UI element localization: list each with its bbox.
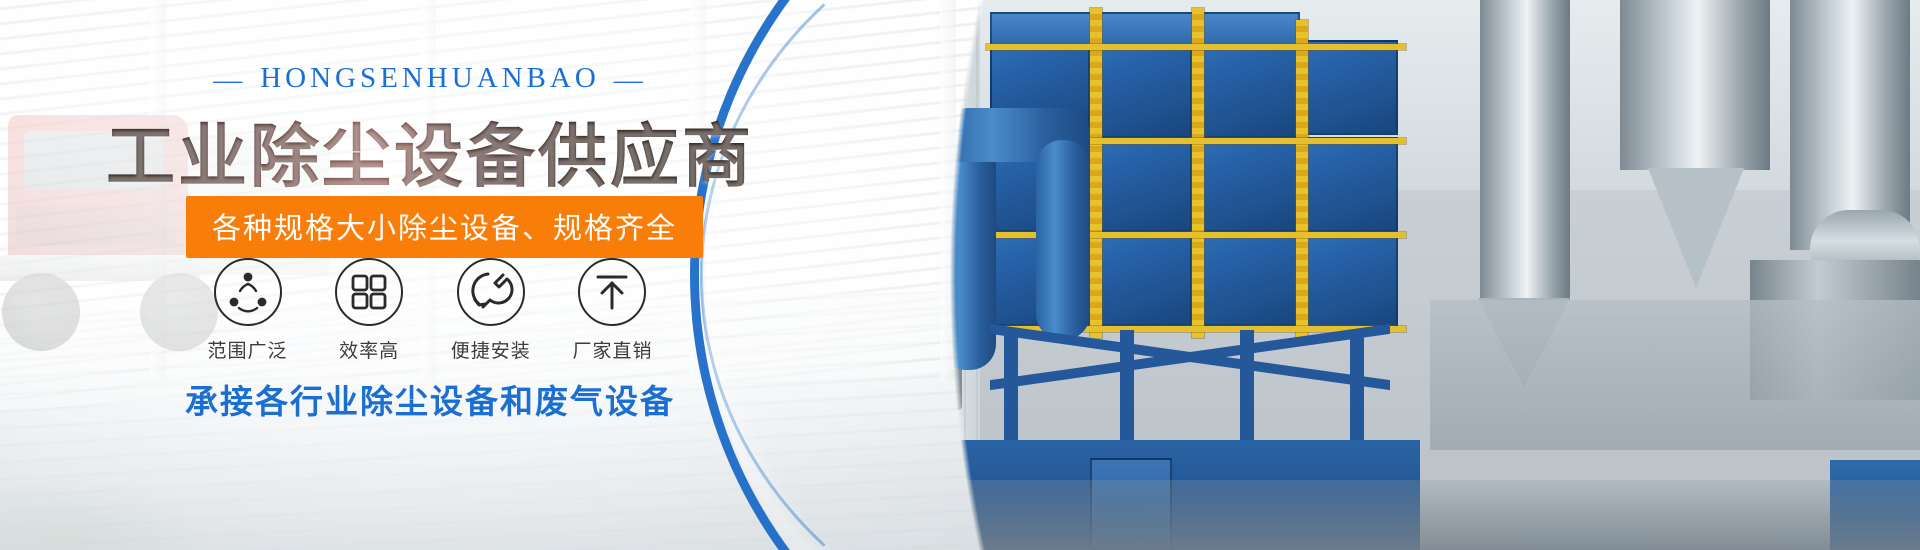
eyebrow-text: HONGSENHUANBAO	[260, 62, 600, 94]
feature-list: 范围广泛 效率高	[195, 258, 665, 363]
page-title: 工业除尘设备供应商	[0, 100, 860, 200]
metal-hopper	[1620, 0, 1770, 170]
banner-content: —HONGSENHUANBAO— 工业除尘设备供应商 各种规格大小除尘设备、规格…	[0, 0, 860, 550]
feature-item-range[interactable]: 范围广泛	[195, 258, 300, 363]
feature-label: 厂家直销	[560, 336, 665, 363]
grid-squares-icon	[335, 258, 403, 326]
promo-banner: —HONGSENHUANBAO— 工业除尘设备供应商 各种规格大小除尘设备、规格…	[0, 0, 1920, 550]
highlight-bar-text: 各种规格大小除尘设备、规格齐全	[212, 213, 677, 245]
feature-label: 便捷安装	[438, 336, 543, 363]
upload-arrow-icon	[578, 258, 646, 326]
wrench-rotate-icon	[457, 258, 525, 326]
eyebrow-dash-left: —	[213, 64, 246, 97]
brand-eyebrow: —HONGSENHUANBAO—	[0, 62, 860, 97]
feature-label: 范围广泛	[195, 336, 300, 363]
feature-label: 效率高	[317, 336, 422, 363]
feature-item-factory-direct[interactable]: 厂家直销	[560, 258, 665, 363]
feature-item-efficiency[interactable]: 效率高	[317, 258, 422, 363]
banner-tagline: 承接各行业除尘设备和废气设备	[0, 375, 860, 423]
eyebrow-dash-right: —	[614, 64, 647, 97]
share-network-icon	[214, 258, 282, 326]
highlight-bar: 各种规格大小除尘设备、规格齐全	[186, 196, 703, 258]
hopper-cone	[1648, 168, 1744, 288]
feature-item-install[interactable]: 便捷安装	[438, 258, 543, 363]
